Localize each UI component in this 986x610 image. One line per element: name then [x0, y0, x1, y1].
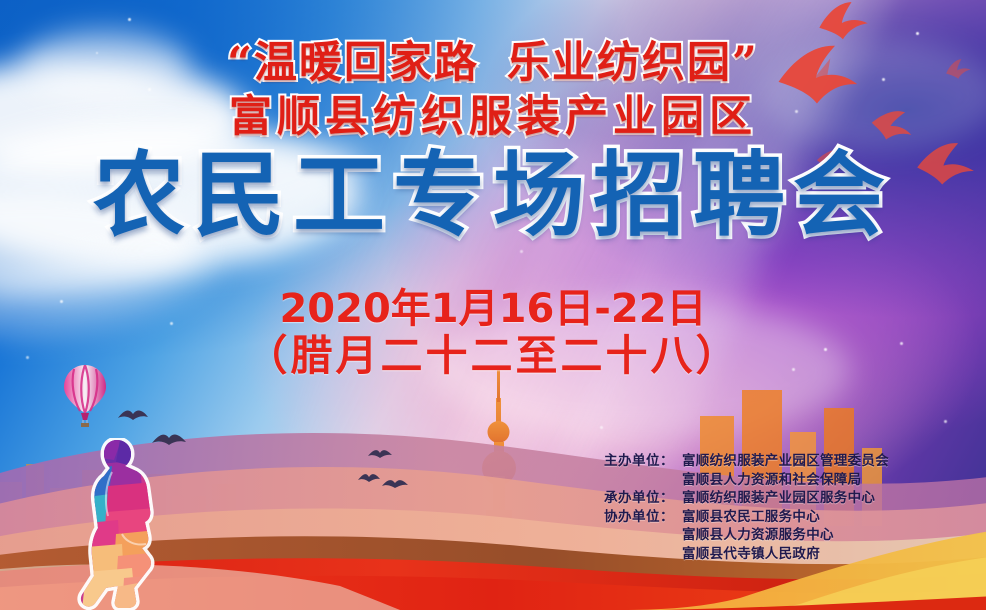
- headline-slogan: “温暖回家路乐业纺织园”: [0, 28, 986, 90]
- organizer-label: 主办单位：: [604, 452, 682, 471]
- quote-open: “: [227, 38, 254, 88]
- organizer-value: 富顺纺织服装产业园区管理委员会: [682, 452, 889, 471]
- organizer-value: 富顺县人力资源和社会保障局: [682, 471, 889, 490]
- page-title: 农民工专场招聘会: [0, 150, 986, 242]
- organizer-list: 主办单位： 富顺纺织服装产业园区管理委员会 富顺县人力资源和社会保障局 承办单位…: [604, 452, 956, 564]
- organizer-value: 富顺县人力资源服务中心: [682, 526, 834, 545]
- event-date-lunar: （腊月二十二至二十八）: [0, 322, 986, 383]
- headline-part-2: 乐业纺织园: [507, 38, 732, 88]
- text-layer: “温暖回家路乐业纺织园” 富顺县纺织服装产业园区 农民工专场招聘会 2020年1…: [0, 0, 986, 610]
- organizer-value: 富顺纺织服装产业园区服务中心: [682, 489, 875, 508]
- organizer-row-coorganizer: 协办单位： 富顺县农民工服务中心 富顺县人力资源服务中心 富顺县代寺镇人民政府: [604, 508, 956, 564]
- organizer-value: 富顺县代寺镇人民政府: [682, 545, 834, 564]
- organizer-row-host: 主办单位： 富顺纺织服装产业园区管理委员会 富顺县人力资源和社会保障局: [604, 452, 956, 489]
- quote-close: ”: [732, 38, 759, 88]
- organizer-value: 富顺县农民工服务中心: [682, 508, 834, 527]
- organizer-label: 承办单位：: [604, 489, 682, 508]
- organizer-row-undertaker: 承办单位： 富顺纺织服装产业园区服务中心: [604, 489, 956, 508]
- subheadline-park-name: 富顺县纺织服装产业园区: [0, 82, 986, 144]
- organizer-label: 协办单位：: [604, 508, 682, 527]
- recruitment-fair-banner: “温暖回家路乐业纺织园” 富顺县纺织服装产业园区 农民工专场招聘会 2020年1…: [0, 0, 986, 610]
- headline-part-1: 温暖回家路: [254, 38, 479, 88]
